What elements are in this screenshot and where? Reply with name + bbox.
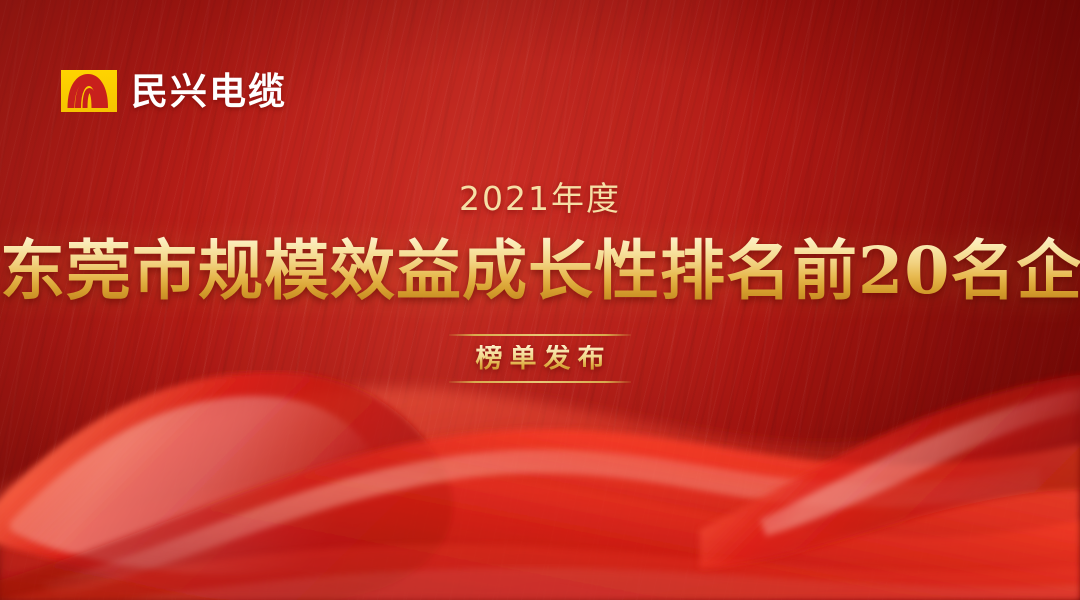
silk-ribbon-decoration: [0, 370, 1080, 600]
award-announcement-banner: 民兴电缆 2021年度 东莞市规模效益成长性排名前20名企业 榜单发布: [0, 0, 1080, 600]
brand-logo[interactable]: 民兴电缆: [61, 70, 287, 112]
divider-rule-top: [449, 334, 631, 336]
year-label: 2021年度: [0, 178, 1080, 219]
divider-rule-bottom: [449, 381, 631, 383]
subtitle: 榜单发布: [469, 345, 612, 372]
headline-block: 2021年度 东莞市规模效益成长性排名前20名企业 榜单发布: [0, 178, 1080, 383]
brand-name: 民兴电缆: [131, 73, 287, 110]
minxing-arches-logo-mark: [61, 70, 117, 112]
page-title: 东莞市规模效益成长性排名前20名企业: [0, 235, 1080, 308]
subtitle-group: 榜单发布: [0, 334, 1080, 383]
